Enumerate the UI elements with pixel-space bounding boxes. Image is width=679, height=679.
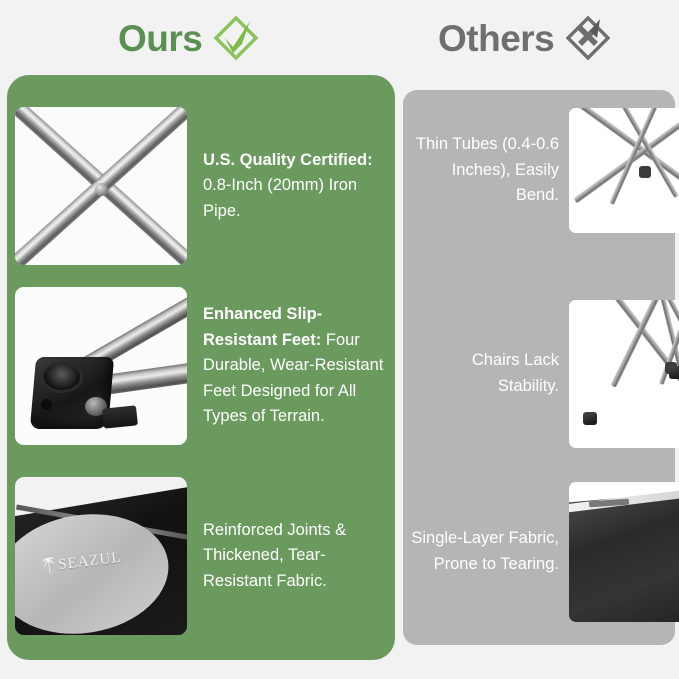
others-title: Others <box>438 20 554 57</box>
black-single-layer-bag-photo <box>569 482 679 622</box>
ours-feature-lead: Enhanced Slip-Resistant Feet: <box>203 305 322 349</box>
others-header: Others <box>438 14 612 62</box>
ours-feature-body: Reinforced Joints & Thickened, Tear-Resi… <box>203 521 346 590</box>
comparison-infographic: Ours Others <box>0 0 679 679</box>
others-feature-text: Chairs Lack Stability. <box>409 348 559 399</box>
ours-header: Ours <box>118 14 260 62</box>
others-feature-row: Thin Tubes (0.4-0.6 Inches), Easily Bend… <box>409 108 679 233</box>
others-feature-row: Chairs Lack Stability. <box>409 300 679 448</box>
palm-tree-icon <box>40 555 57 577</box>
ours-feature-text: Reinforced Joints & Thickened, Tear-Resi… <box>203 518 393 595</box>
ours-feature-body: 0.8-Inch (20mm) Iron Pipe. <box>203 176 357 220</box>
check-diamond-icon <box>212 14 260 62</box>
unstable-chair-legs-photo <box>569 300 679 448</box>
seazul-carry-bag-photo: SEAZUL <box>15 477 187 635</box>
cross-diamond-icon <box>564 14 612 62</box>
thin-tubes-photo <box>569 108 679 233</box>
ours-feature-lead: U.S. Quality Certified: <box>203 151 373 169</box>
ours-feature-text: Enhanced Slip-Resistant Feet: Four Durab… <box>203 302 393 430</box>
ours-feature-row: SEAZUL Reinforced Joints & Thickened, Te… <box>15 477 393 635</box>
ours-feature-row: Enhanced Slip-Resistant Feet: Four Durab… <box>15 287 393 445</box>
ours-title: Ours <box>118 20 202 57</box>
others-feature-row: Single-Layer Fabric, Prone to Tearing. <box>409 482 679 622</box>
others-feature-text: Single-Layer Fabric, Prone to Tearing. <box>409 526 559 577</box>
x-frame-iron-pipe-photo <box>15 107 187 265</box>
slip-resistant-foot-joint-photo <box>15 287 187 445</box>
others-feature-text: Thin Tubes (0.4-0.6 Inches), Easily Bend… <box>409 132 559 209</box>
ours-feature-text: U.S. Quality Certified: 0.8-Inch (20mm) … <box>203 148 393 225</box>
ours-feature-row: U.S. Quality Certified: 0.8-Inch (20mm) … <box>15 107 393 265</box>
